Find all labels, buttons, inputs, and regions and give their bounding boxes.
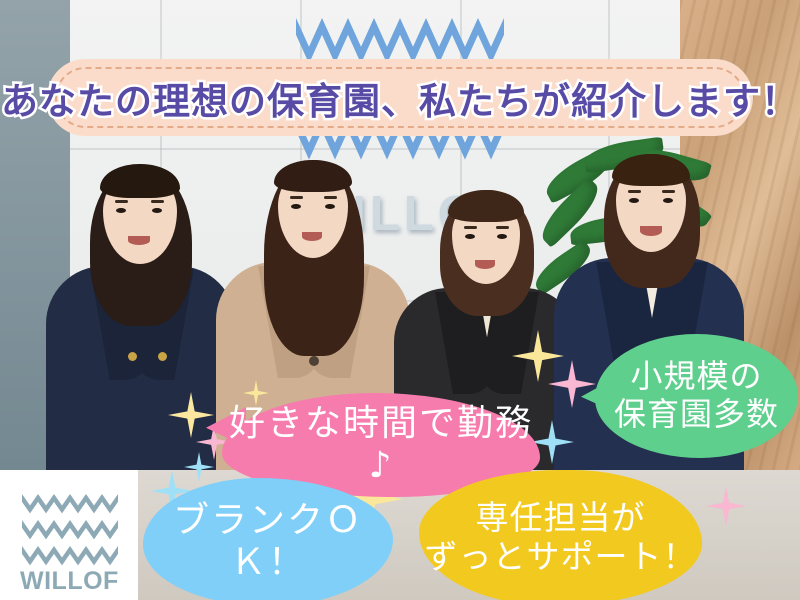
callout-pink-bubble: 好きな時間で勤務♪ — [222, 393, 540, 497]
poster-canvas: WILLOF — [0, 0, 800, 600]
callout-blue-line-1: ブランクＯＫ！ — [143, 500, 393, 585]
callout-blue-bubble: ブランクＯＫ！ — [143, 478, 393, 600]
callout-pink-line-1: 好きな時間で勤務♪ — [222, 403, 540, 488]
callout-yellow-bubble: 専任担当が ずっとサポート！ — [419, 470, 702, 600]
callout-yellow-line-2: ずっとサポート！ — [425, 538, 697, 577]
headline-banner: あなたの理想の保育園、私たちが紹介します！ — [47, 59, 753, 136]
brand-logo-badge: WILLOF — [0, 470, 138, 600]
logo-wordmark: WILLOF — [20, 567, 130, 596]
callout-green-line-2: 保育園多数 — [614, 396, 779, 434]
logo-zigzag-row — [22, 546, 118, 568]
logo-zigzag-row — [22, 520, 118, 542]
callout-green-line-1: 小規模の — [614, 358, 779, 396]
callout-green-bubble: 小規模の 保育園多数 — [595, 334, 798, 458]
logo-zigzag-row — [22, 494, 118, 516]
callout-yellow-line-1: 専任担当が — [425, 499, 697, 538]
person-1 — [40, 150, 240, 480]
headline-text: あなたの理想の保育園、私たちが紹介します！ — [1, 71, 799, 125]
